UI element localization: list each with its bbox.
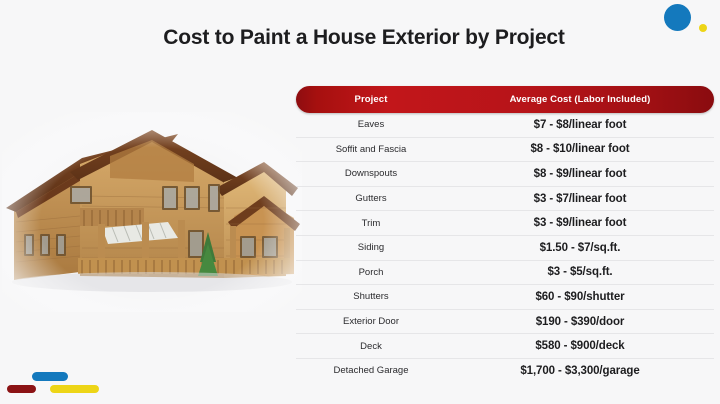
cell-project: Siding bbox=[296, 242, 446, 253]
bottom-left-decoration bbox=[0, 368, 160, 404]
blue-bar-icon bbox=[32, 372, 68, 381]
red-bar-icon bbox=[7, 385, 36, 393]
cell-project: Downspouts bbox=[296, 168, 446, 179]
cell-average-cost: $3 - $5/sq.ft. bbox=[446, 266, 714, 278]
cell-project: Eaves bbox=[296, 119, 446, 130]
yellow-dot-icon bbox=[699, 24, 707, 32]
table-row: Trim $3 - $9/linear foot bbox=[296, 211, 714, 236]
cell-average-cost: $1,700 - $3,300/garage bbox=[446, 365, 714, 377]
table-row: Detached Garage $1,700 - $3,300/garage bbox=[296, 359, 714, 383]
cell-project: Soffit and Fascia bbox=[296, 144, 446, 155]
cell-project: Gutters bbox=[296, 193, 446, 204]
table-row: Shutters $60 - $90/shutter bbox=[296, 285, 714, 310]
cell-average-cost: $8 - $9/linear foot bbox=[446, 168, 714, 180]
page-title: Cost to Paint a House Exterior by Projec… bbox=[110, 26, 618, 50]
wooden-house-illustration bbox=[2, 112, 302, 312]
cell-average-cost: $1.50 - $7/sq.ft. bbox=[446, 242, 714, 254]
cell-project: Shutters bbox=[296, 291, 446, 302]
table-row: Exterior Door $190 - $390/door bbox=[296, 310, 714, 335]
table-header-row: Project Average Cost (Labor Included) bbox=[296, 86, 714, 113]
cell-average-cost: $3 - $7/linear foot bbox=[446, 193, 714, 205]
cell-project: Porch bbox=[296, 267, 446, 278]
cell-project: Trim bbox=[296, 218, 446, 229]
yellow-bar-icon bbox=[50, 385, 99, 393]
table-row: Siding $1.50 - $7/sq.ft. bbox=[296, 236, 714, 261]
table-row: Deck $580 - $900/deck bbox=[296, 334, 714, 359]
table-row: Downspouts $8 - $9/linear foot bbox=[296, 162, 714, 187]
cost-table: Project Average Cost (Labor Included) Ea… bbox=[296, 86, 714, 383]
cell-average-cost: $3 - $9/linear foot bbox=[446, 217, 714, 229]
cell-average-cost: $580 - $900/deck bbox=[446, 340, 714, 352]
cell-project: Deck bbox=[296, 341, 446, 352]
table-row: Porch $3 - $5/sq.ft. bbox=[296, 261, 714, 286]
table-row: Gutters $3 - $7/linear foot bbox=[296, 187, 714, 212]
blue-circle-icon bbox=[664, 4, 691, 31]
table-row: Eaves $7 - $8/linear foot bbox=[296, 113, 714, 138]
column-header-project: Project bbox=[296, 94, 446, 105]
cell-project: Exterior Door bbox=[296, 316, 446, 327]
cell-average-cost: $60 - $90/shutter bbox=[446, 291, 714, 303]
cell-average-cost: $190 - $390/door bbox=[446, 316, 714, 328]
top-right-decoration bbox=[640, 0, 720, 50]
cell-average-cost: $7 - $8/linear foot bbox=[446, 119, 714, 131]
cell-average-cost: $8 - $10/linear foot bbox=[446, 143, 714, 155]
column-header-average-cost: Average Cost (Labor Included) bbox=[446, 94, 714, 105]
table-row: Soffit and Fascia $8 - $10/linear foot bbox=[296, 138, 714, 163]
cell-project: Detached Garage bbox=[296, 365, 446, 376]
